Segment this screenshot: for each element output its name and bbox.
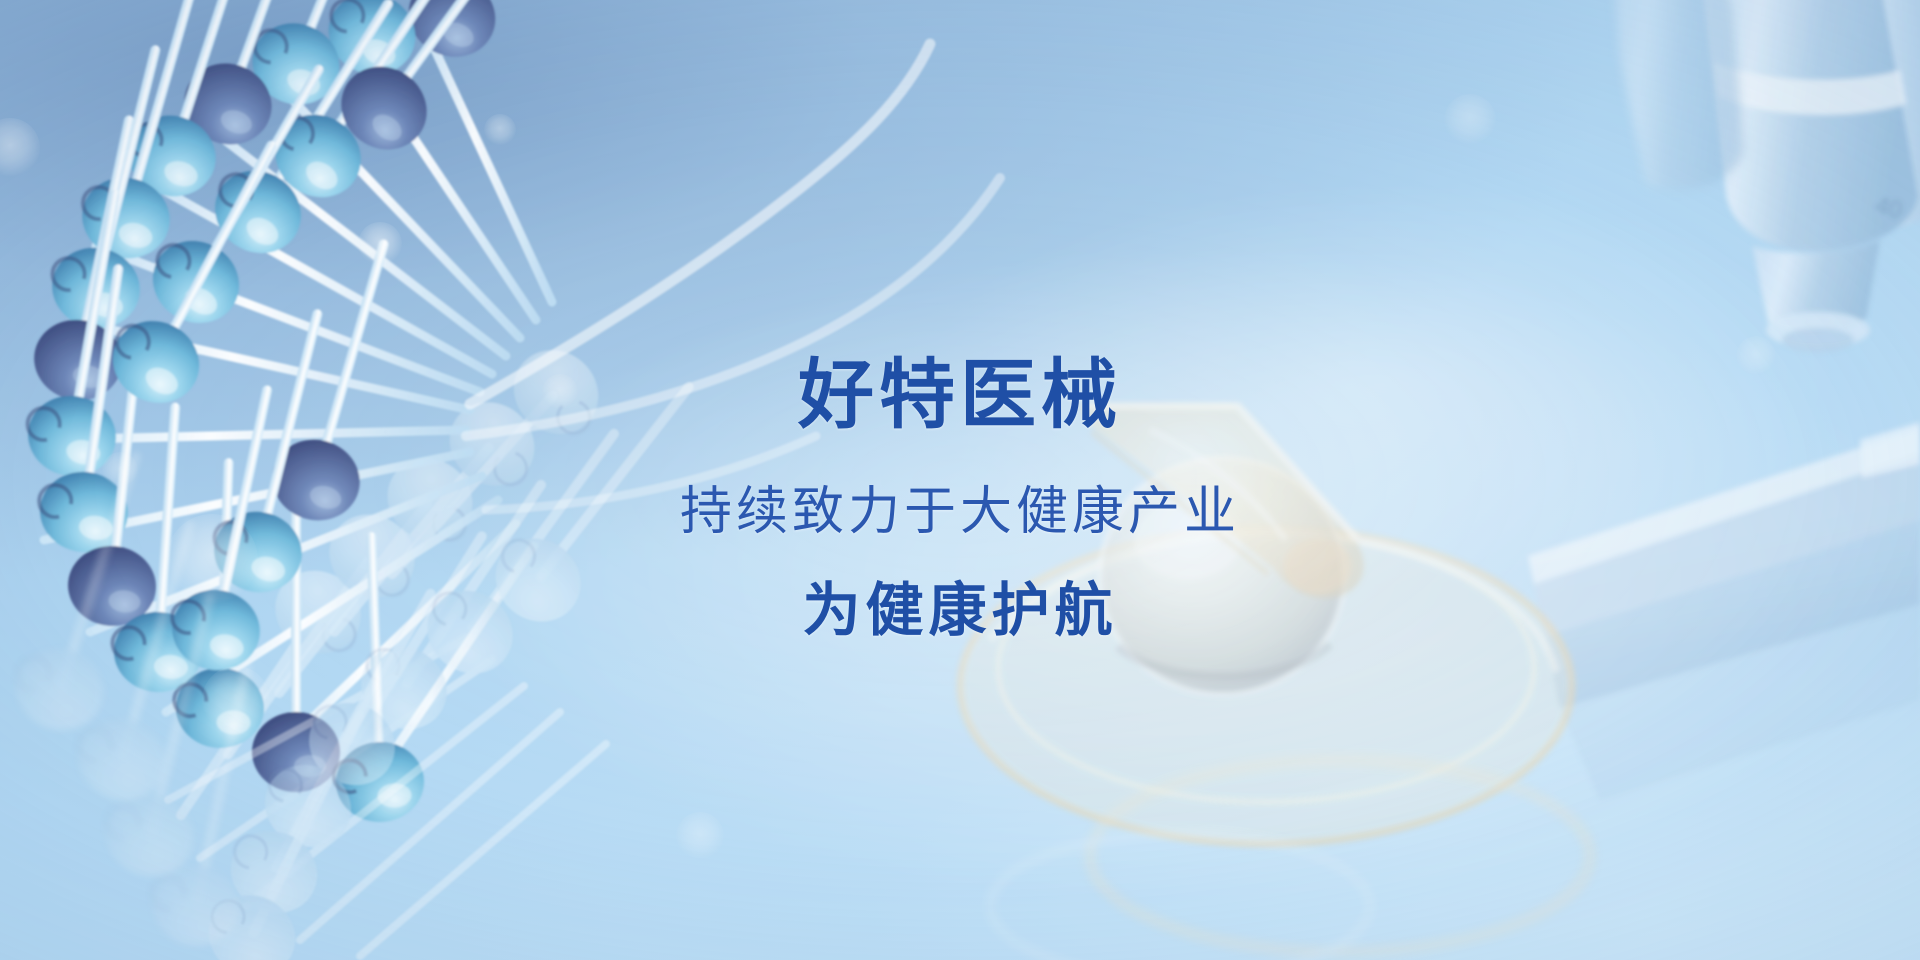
banner-tagline: 为健康护航 <box>802 578 1117 644</box>
hero-banner: 40 <box>0 0 1920 960</box>
banner-title: 好特医械 <box>798 352 1122 440</box>
banner-subtitle: 持续致力于大健康产业 <box>680 482 1240 542</box>
banner-text-block: 好特医械 持续致力于大健康产业 为健康护航 <box>0 0 1920 960</box>
